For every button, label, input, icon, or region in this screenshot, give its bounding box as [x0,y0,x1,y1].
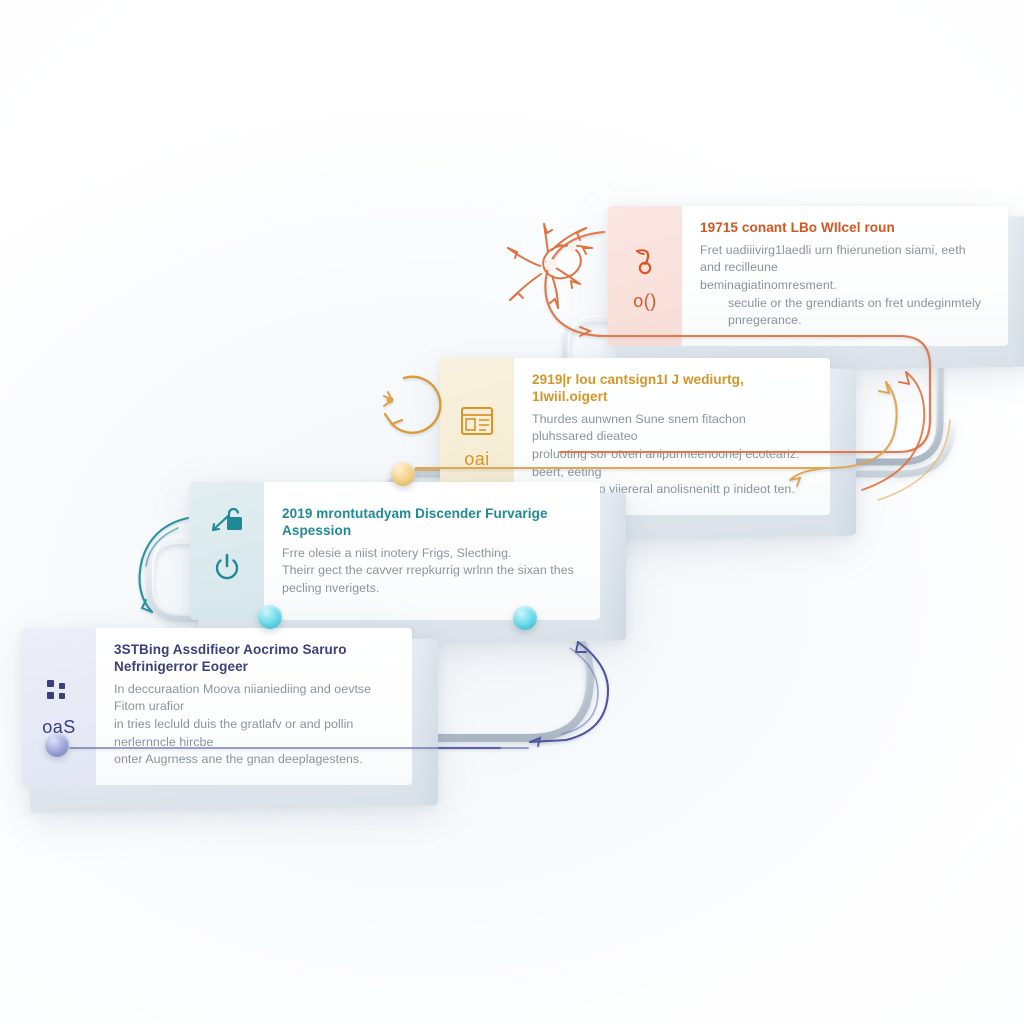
node-dot-amber[interactable] [391,462,415,486]
amber-circular-arrow-ring [384,377,440,433]
node-dot-cyan-right[interactable] [513,606,537,630]
infographic-canvas: o() 19715 conant LBo WIlcel roun Fret ua… [0,0,1024,1024]
flow-teal-arrow [140,518,188,612]
flow-orange-arrow [545,232,930,452]
node-dot-cyan-left[interactable] [258,605,282,629]
node-dot-periwinkle[interactable] [45,733,69,757]
flow-orange-arc-right [862,372,950,500]
connector-layer-front [0,0,1024,1024]
flow-amber-arrow [416,382,897,486]
orange-starburst-arrow-cluster [508,224,592,308]
flow-indigo-arrow [70,642,608,748]
